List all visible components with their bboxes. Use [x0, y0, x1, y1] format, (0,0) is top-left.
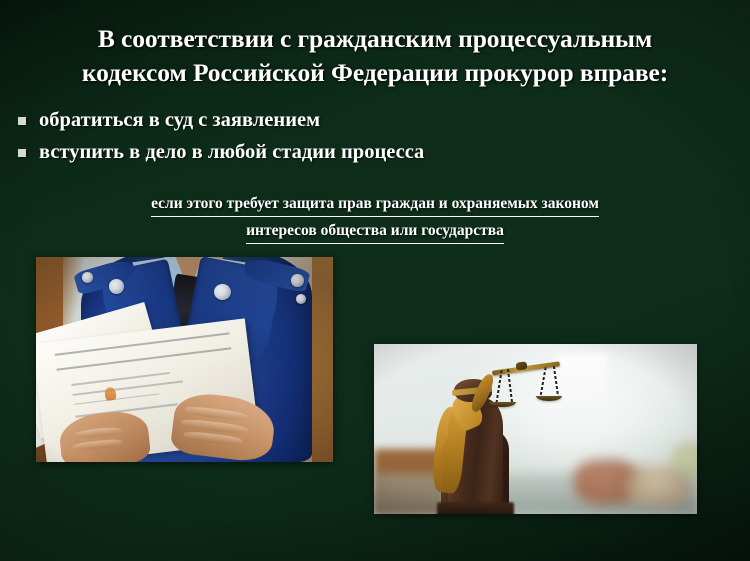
slide-text-layer: В соответствии с гражданским процессуаль… [0, 0, 750, 561]
slide-canvas: В соответствии с гражданским процессуаль… [0, 0, 750, 561]
condition-note: если этого требует защита прав граждан и… [0, 192, 750, 244]
bullet-list: обратиться в суд с заявлением вступить в… [18, 107, 710, 171]
list-item: обратиться в суд с заявлением [18, 107, 710, 133]
slide-title: В соответствии с гражданским процессуаль… [0, 22, 750, 90]
title-line-2: кодексом Российской Федерации прокурор в… [24, 56, 726, 90]
square-bullet-icon [18, 149, 26, 157]
list-item: вступить в дело в любой стадии процесса [18, 139, 710, 165]
bullet-label: обратиться в суд с заявлением [39, 107, 320, 133]
note-line-2: интересов общества или государства [246, 219, 504, 244]
square-bullet-icon [18, 117, 26, 125]
bullet-label: вступить в дело в любой стадии процесса [39, 139, 424, 165]
title-line-1: В соответствии с гражданским процессуаль… [24, 22, 726, 56]
note-line-1: если этого требует защита прав граждан и… [151, 192, 599, 217]
